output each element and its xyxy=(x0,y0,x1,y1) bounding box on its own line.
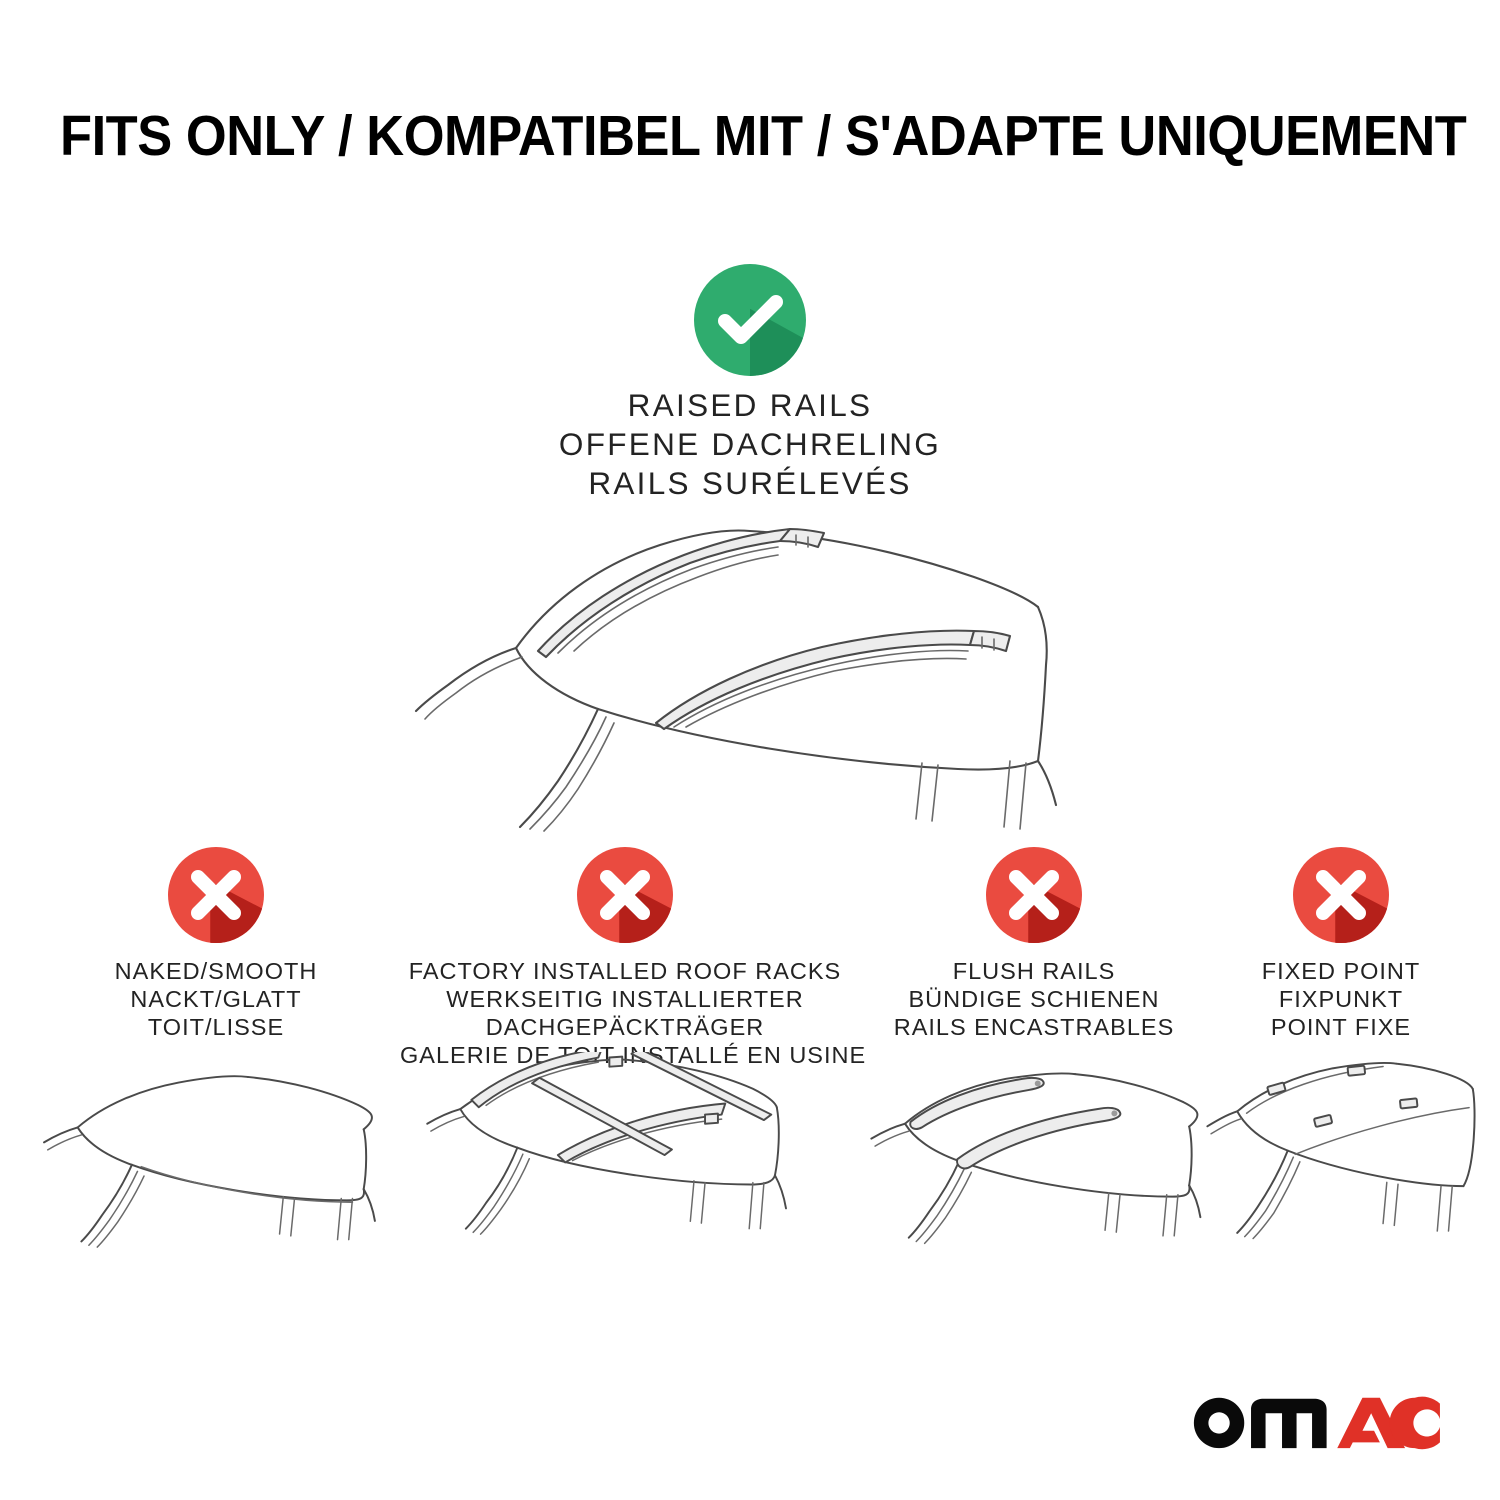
incompatible-label-line-3: TOIT/LISSE xyxy=(26,1013,406,1041)
x-circle-icon xyxy=(577,847,673,943)
incompatible-label-line-2: BÜNDIGE SCHIENEN xyxy=(856,985,1212,1013)
check-circle-icon xyxy=(694,264,806,376)
incompatible-label-line-1: FACTORY INSTALLED ROOF RACKS xyxy=(400,957,850,985)
logo-letter-m xyxy=(1251,1399,1327,1448)
incompatible-label-line-1: FLUSH RAILS xyxy=(856,957,1212,985)
compatible-label-line-3: RAILS SURÉLEVÉS xyxy=(0,464,1500,503)
incompatible-label-line-2: FIXPUNKT xyxy=(1196,985,1486,1013)
car-roof-raised-rails-illustration xyxy=(398,505,1104,835)
incompatible-label-line-3: DACHGEPÄCKTRÄGER xyxy=(400,1013,850,1041)
compatible-label-line-1: RAISED RAILS xyxy=(0,386,1500,425)
page-title: FITS ONLY / KOMPATIBEL MIT / S'ADAPTE UN… xyxy=(60,104,1440,168)
incompatible-label-line-1: FIXED POINT xyxy=(1196,957,1486,985)
incompatible-label-line-1: NAKED/SMOOTH xyxy=(26,957,406,985)
x-circle-icon xyxy=(168,847,264,943)
x-circle-icon xyxy=(1293,847,1389,943)
logo-letter-o xyxy=(1194,1398,1244,1448)
car-roof-naked-smooth-illustration xyxy=(26,1062,406,1277)
x-circle-icon xyxy=(986,847,1082,943)
car-roof-fixed-point-illustration xyxy=(1196,1059,1486,1274)
incompatible-label-line-3: RAILS ENCASTRABLES xyxy=(856,1013,1212,1041)
compatible-label-group: RAISED RAILS OFFENE DACHRELING RAILS SUR… xyxy=(0,386,1500,503)
incompatible-label-line-3: POINT FIXE xyxy=(1196,1013,1486,1041)
car-roof-factory-racks-illustration xyxy=(400,1052,850,1282)
incompatible-label-line-2: NACKT/GLATT xyxy=(26,985,406,1013)
incompatible-label-line-2: WERKSEITIG INSTALLIERTER xyxy=(400,985,850,1013)
car-roof-flush-rails-illustration xyxy=(856,1062,1212,1277)
omac-logo xyxy=(1190,1390,1442,1452)
incompatible-label-group: NAKED/SMOOTH NACKT/GLATT TOIT/LISSE xyxy=(26,957,406,1041)
incompatible-label-group: FIXED POINT FIXPUNKT POINT FIXE xyxy=(1196,957,1486,1041)
compatible-label-line-2: OFFENE DACHRELING xyxy=(0,425,1500,464)
incompatible-label-group: FLUSH RAILS BÜNDIGE SCHIENEN RAILS ENCAS… xyxy=(856,957,1212,1041)
